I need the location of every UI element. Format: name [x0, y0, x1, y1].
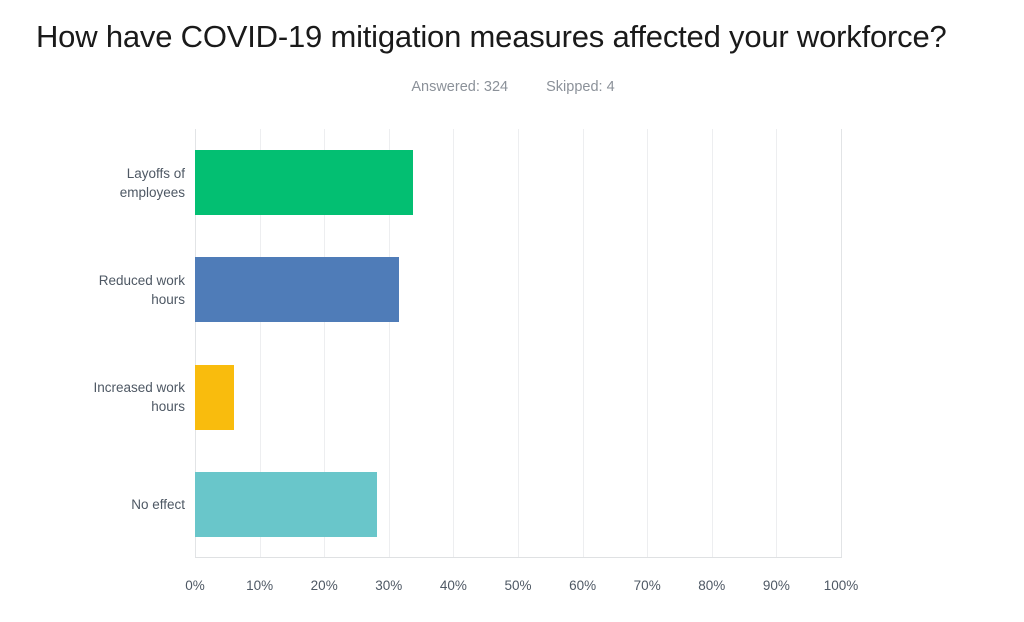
x-tick-0: 0% [185, 578, 205, 593]
skipped-count: Skipped: 4 [546, 79, 615, 95]
bar-layoffs-of-employees[interactable] [195, 150, 413, 215]
x-tick-20: 20% [311, 578, 338, 593]
y-axis-labels: Layoffs ofemployeesReduced workhoursIncr… [10, 129, 185, 558]
gridline-80 [712, 129, 713, 558]
bar-reduced-work-hours[interactable] [195, 257, 399, 322]
gridline-60 [583, 129, 584, 558]
x-axis-line [195, 557, 842, 558]
x-tick-70: 70% [634, 578, 661, 593]
x-tick-60: 60% [569, 578, 596, 593]
y-axis-label-increased-work-hours: Increased workhours [15, 378, 185, 416]
x-tick-40: 40% [440, 578, 467, 593]
gridline-90 [776, 129, 777, 558]
chart-page: How have COVID-19 mitigation measures af… [0, 0, 1024, 622]
answered-count: Answered: 324 [411, 79, 508, 95]
x-tick-100: 100% [824, 578, 859, 593]
y-axis-label-no-effect: No effect [15, 495, 185, 514]
gridline-40 [453, 129, 454, 558]
bar-increased-work-hours[interactable] [195, 365, 234, 430]
x-tick-50: 50% [504, 578, 531, 593]
gridline-70 [647, 129, 648, 558]
x-tick-90: 90% [763, 578, 790, 593]
x-tick-80: 80% [698, 578, 725, 593]
x-tick-30: 30% [375, 578, 402, 593]
x-axis-tick-labels: 0%10%20%30%40%50%60%70%80%90%100% [0, 578, 1024, 602]
y-axis-label-reduced-work-hours: Reduced workhours [15, 271, 185, 309]
y-axis-label-layoffs-of-employees: Layoffs ofemployees [15, 164, 185, 202]
response-summary: Answered: 324 Skipped: 4 [0, 79, 1024, 95]
x-tick-10: 10% [246, 578, 273, 593]
page-title: How have COVID-19 mitigation measures af… [36, 19, 1004, 55]
gridline-100 [841, 129, 842, 558]
gridline-50 [518, 129, 519, 558]
bar-no-effect[interactable] [195, 472, 377, 537]
plot-area [195, 129, 841, 558]
